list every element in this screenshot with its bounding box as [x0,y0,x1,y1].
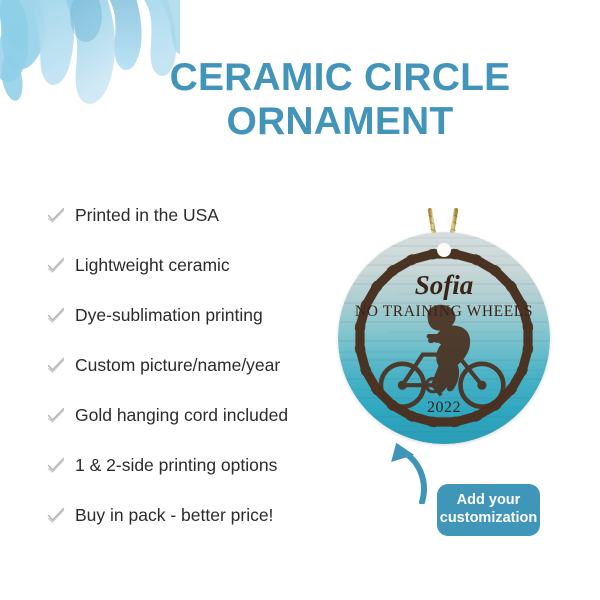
ornament-product-image: Sofia NO TRAINING WHEELS 2022 [330,206,558,444]
check-icon [46,355,66,375]
feature-item: Buy in pack - better price! [46,490,346,540]
page-title: CERAMIC CIRCLE ORNAMENT [120,56,560,144]
feature-item: 1 & 2-side printing options [46,440,346,490]
curved-arrow-icon [378,438,438,504]
feature-label: Custom picture/name/year [75,355,280,376]
ornament-name: Sofia [415,270,474,300]
check-icon [46,255,66,275]
add-customization-badge[interactable]: Add your customization [437,484,540,536]
check-icon [46,205,66,225]
check-icon [46,305,66,325]
ornament-subtitle: NO TRAINING WHEELS [355,303,533,320]
feature-label: Dye-sublimation printing [75,305,263,326]
feature-label: 1 & 2-side printing options [75,455,277,476]
feature-list: Printed in the USALightweight ceramicDye… [46,190,346,540]
title-line-2: ORNAMENT [120,100,560,144]
check-icon [46,405,66,425]
badge-line-1: Add your [457,492,521,508]
feature-label: Gold hanging cord included [75,405,288,426]
badge-line-2: customization [440,510,537,526]
feature-item: Dye-sublimation printing [46,290,346,340]
check-icon [46,505,66,525]
feature-item: Custom picture/name/year [46,340,346,390]
title-line-1: CERAMIC CIRCLE [170,56,511,99]
feature-item: Gold hanging cord included [46,390,346,440]
ornament-year: 2022 [427,399,461,416]
feature-item: Lightweight ceramic [46,240,346,290]
feature-item: Printed in the USA [46,190,346,240]
feature-label: Lightweight ceramic [75,255,230,276]
feature-label: Printed in the USA [75,205,219,226]
check-icon [46,455,66,475]
feature-label: Buy in pack - better price! [75,505,273,526]
ornament-disc: Sofia NO TRAINING WHEELS 2022 [338,232,550,444]
badge-text: Add your customization [440,492,537,527]
